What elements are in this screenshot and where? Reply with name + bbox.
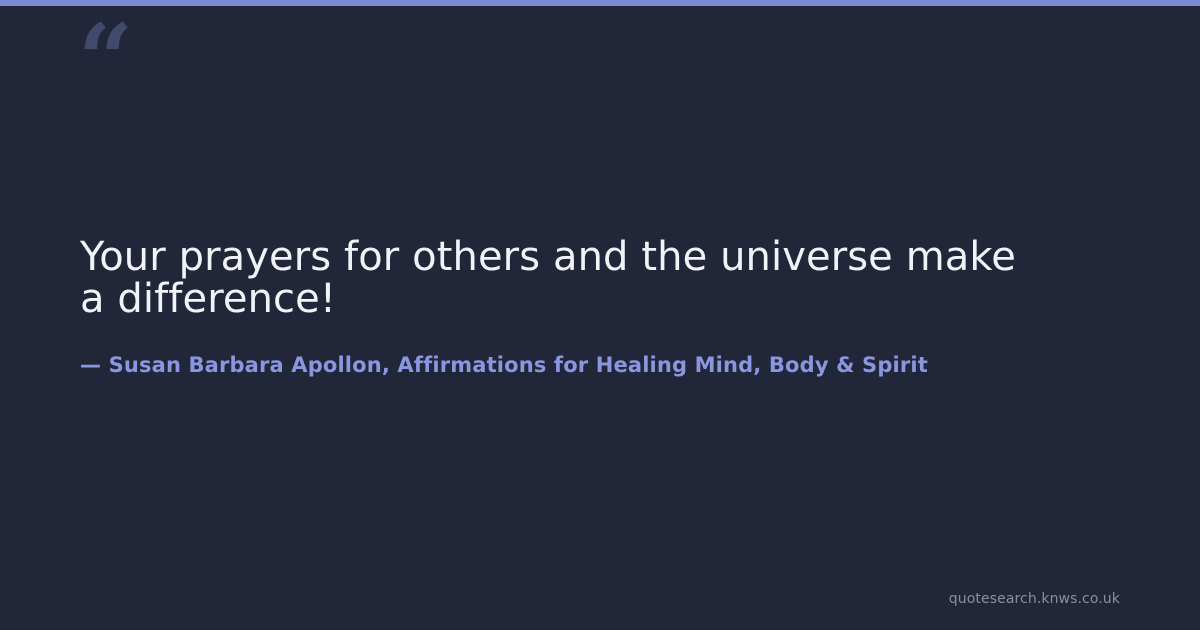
open-quote-icon: “	[78, 12, 131, 108]
quote-card: “ Your prayers for others and the univer…	[0, 0, 1200, 630]
quote-attribution: — Susan Barbara Apollon, Affirmations fo…	[80, 352, 1120, 378]
top-accent-bar	[0, 0, 1200, 6]
site-footer-url: quotesearch.knws.co.uk	[949, 590, 1120, 608]
quote-text: Your prayers for others and the universe…	[80, 236, 1040, 320]
quote-body: Your prayers for others and the universe…	[80, 236, 1120, 378]
